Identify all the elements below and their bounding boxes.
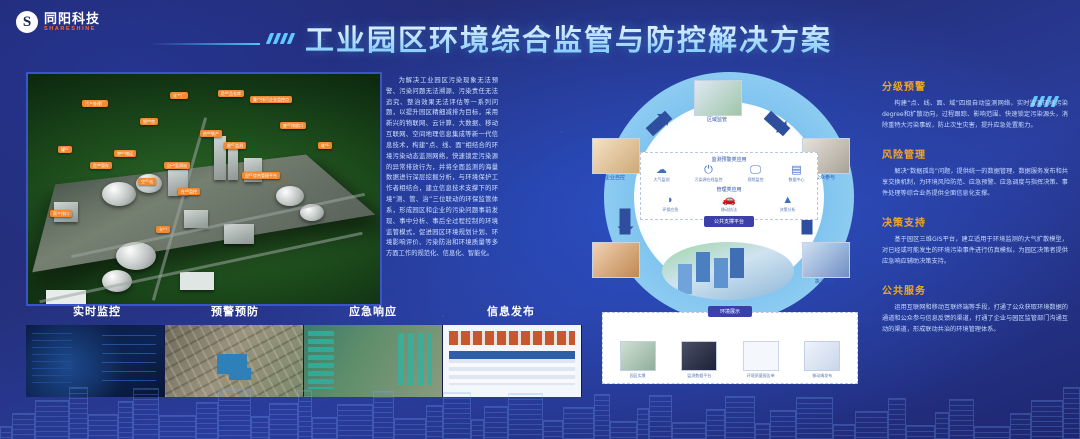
display-item-image [681, 341, 717, 371]
skyline-building [1031, 400, 1063, 439]
display-item-label: 环境质量报告单 [747, 373, 775, 379]
brand-name-en: SHARESHINE [44, 27, 100, 33]
skyline-building [949, 399, 974, 439]
section-heading: 分级预警 [882, 78, 1068, 93]
layers-icon: ▤ [791, 165, 801, 176]
logo-mark-icon: S [16, 11, 38, 33]
page-title: 工业园区环境综合监管与防控解决方案 [305, 17, 832, 59]
skyline-building [796, 397, 833, 439]
category-info-release: 信息发布 [442, 303, 580, 319]
park-chip: 空气站 [138, 178, 156, 185]
skyline-building [35, 400, 69, 439]
title-deco-bars-left [266, 33, 295, 44]
park-tank [102, 182, 136, 206]
platform-tag: 公共支撑平台 [704, 216, 754, 227]
section-body: 解决“数据孤岛”问题，提供统一的数据管理、数据服务发布和共享交换机制，为环境风险… [882, 166, 1068, 199]
park-chip: 重点排污企业监控点 [250, 96, 292, 103]
skyline-building [543, 420, 563, 439]
monitor-icon: 🖵 [750, 165, 761, 176]
platform-panel: 监测预警类应用 ☁ 大气监测 ⏻ 污染源在线监控 🖵 视频监控 ▤ 数据中心 [640, 152, 818, 220]
skyline-building [563, 407, 594, 439]
diagram-node-label: 企业自控 [582, 174, 648, 181]
platform-group2-title: 管理类应用 [641, 186, 817, 193]
skyline-building [594, 394, 610, 439]
diagram-node-label: 区域监管 [684, 116, 750, 123]
display-item[interactable]: 园区实景 [620, 341, 656, 379]
skyline-building [1010, 413, 1031, 439]
category-label-row: 实时监控 预警预防 应急响应 信息发布 [28, 300, 580, 322]
park-chip: 废气排放口 [280, 122, 306, 129]
skyline-building [855, 411, 888, 439]
park-chip: 物料储运 [114, 150, 136, 157]
park-chip: 危险品仓库 [218, 90, 244, 97]
skyline-building [610, 421, 637, 439]
title-banner: 工业园区环境综合监管与防控解决方案 [150, 18, 950, 58]
section-heading: 风险管理 [882, 146, 1068, 161]
diagram-node-image [592, 242, 640, 278]
skyline-building [637, 408, 649, 439]
park-chip: 卡口 [156, 226, 170, 233]
skyline-building [484, 406, 508, 439]
feature-sections: 分级预警 构建“点、线、面、域”四级自动监测网络，实时监测环境污染degree和… [882, 78, 1068, 350]
environment-display-items: 园区实景 监测数据平台 环境质量报告单 移动端发布 [603, 313, 857, 383]
skyline-building [312, 417, 337, 439]
smart-city-image [662, 242, 794, 300]
park-chip: 化工厂 [170, 92, 188, 99]
section-heading: 公共服务 [882, 282, 1068, 297]
skyline-building [755, 423, 770, 439]
park-chip: 雨水排口 [50, 210, 72, 217]
skyline-building [69, 387, 88, 439]
flow-arrow [620, 209, 631, 235]
skyline-building [196, 402, 218, 439]
park-chip: 园区综合管理平台 [242, 172, 280, 179]
poster-root: S 同阳科技 SHARESHINE 工业园区环境综合监管与防控解决方案 [0, 0, 1080, 439]
park-chip: 烟气监测 [224, 142, 246, 149]
environment-display-panel: 环境展示 园区实景 监测数据平台 环境质量报告单 移动端发布 [602, 312, 858, 384]
section-decision-support: 决策支持 基于园区三维GIS平台，建立适用于环境监测的大气扩散模型，对已经或可能… [882, 214, 1068, 267]
skyline-building [394, 418, 426, 439]
skyline-building [706, 409, 725, 439]
solution-intro-text: 为解决工业园区污染现象无法预警、污染问题无法溯源、污染责任无法追究、整治效果无法… [386, 76, 498, 290]
park-building [180, 272, 214, 290]
brand-text: 同阳科技 SHARESHINE [44, 12, 100, 33]
display-item-image [620, 341, 656, 371]
park-chip: 危废暂存 [90, 162, 112, 169]
park-chip: 污水处理厂 [82, 100, 108, 107]
skyline-building [974, 426, 1010, 439]
skyline-building [649, 395, 672, 439]
section-body: 运用互联网和移动互联终端等手段，打通了公众获取环境数据的通道和公众参与信息反馈的… [882, 302, 1068, 335]
display-item[interactable]: 环境质量报告单 [743, 341, 779, 379]
park-chip: 自动监测站 [164, 162, 190, 169]
diagram-node-label: 执法监察 [792, 278, 858, 285]
skyline-building [725, 396, 755, 439]
diagram-node-label: 应急联动 [582, 278, 648, 285]
section-body: 基于园区三维GIS平台，建立适用于环境监测的大气扩散模型，对已经或可能发生的环境… [882, 234, 1068, 267]
display-item-label: 监测数据平台 [687, 373, 711, 379]
section-risk-management: 风险管理 解决“数据孤岛”问题，提供统一的数据管理、数据服务发布和共享交换机制，… [882, 146, 1068, 199]
display-item-label: 园区实景 [630, 373, 646, 379]
category-realtime-monitoring: 实时监控 [28, 303, 166, 319]
skyline-building [337, 404, 373, 439]
platform-app-source[interactable]: ⏻ 污染源在线监控 [695, 165, 723, 183]
brand-name-cn: 同阳科技 [44, 12, 100, 25]
power-icon: ⏻ [704, 165, 713, 176]
platform-app-label: 环保应急 [662, 207, 678, 213]
diagram-node-image [592, 138, 640, 174]
display-item-image [743, 341, 779, 371]
platform-app-emergency[interactable]: ◗ 环保应急 [662, 195, 678, 213]
skyline-building [298, 390, 312, 439]
title-deco-line [150, 43, 260, 45]
skyline-building [906, 425, 935, 439]
section-graded-warning: 分级预警 构建“点、线、面、域”四级自动监测网络，实时监测环境污染degree和… [882, 78, 1068, 131]
section-heading: 决策支持 [882, 214, 1068, 229]
park-chip: 罐区 [58, 146, 72, 153]
platform-app-mobile-enforcement[interactable]: 🚗 移动执法 [721, 195, 737, 213]
display-item-image [804, 341, 840, 371]
skyline-building [426, 405, 443, 439]
skyline-building [935, 412, 949, 439]
display-item[interactable]: 移动端发布 [804, 341, 840, 379]
car-icon: 🚗 [722, 195, 736, 206]
platform-app-decision[interactable]: ▲ 决策分析 [780, 195, 796, 213]
section-public-service: 公共服务 运用互联网和移动互联终端等手段，打通了公众获取环境数据的通道和公众参与… [882, 282, 1068, 335]
cloud-icon: ☁ [656, 165, 667, 176]
park-chip: 在线监控 [178, 188, 200, 195]
category-emergency-response: 应急响应 [304, 303, 442, 319]
brand-logo: S 同阳科技 SHARESHINE [16, 11, 100, 33]
display-item-label: 移动端发布 [812, 373, 832, 379]
platform-icon-row-1: ☁ 大气监测 ⏻ 污染源在线监控 🖵 视频监控 ▤ 数据中心 [641, 165, 817, 183]
skyline-building [118, 401, 133, 439]
skyline-building [12, 413, 35, 439]
skyline-building [159, 415, 196, 439]
skyline-building [508, 393, 543, 439]
park-building [184, 210, 208, 228]
environment-display-tag: 环境展示 [708, 306, 752, 317]
park-chip: 热电联产 [200, 130, 222, 137]
skyline-building [0, 426, 12, 439]
diagram-node-image [694, 80, 742, 116]
park-chip: 堆场 [318, 142, 332, 149]
platform-app-label: 大气监测 [654, 177, 670, 183]
skyline-building [833, 424, 855, 439]
platform-app-label: 污染源在线监控 [695, 177, 723, 183]
platform-app-label: 决策分析 [780, 207, 796, 213]
center-flow-diagram: 区域监管 企业自控 公众参与 执法监察 应急联动 监测预警类应用 ☁ 大气监测 … [588, 66, 870, 396]
section-body: 构建“点、线、面、域”四级自动监测网络，实时监测环境污染degree和扩散动向，… [882, 98, 1068, 131]
industrial-park-3d-image: 污水处理厂 化工厂 危险品仓库 重点排污企业监控点 废气排放口 锅炉房 热电联产… [26, 72, 382, 306]
platform-app-air[interactable]: ☁ 大气监测 [654, 165, 670, 183]
skyline-building [133, 388, 159, 439]
diagram-node-image [802, 242, 850, 278]
skyline-building [888, 398, 906, 439]
skyline-building [1063, 387, 1080, 439]
platform-app-label: 移动执法 [721, 207, 737, 213]
skyline-building [471, 419, 484, 439]
skyline-building [269, 403, 298, 439]
platform-group1-title: 监测预警类应用 [641, 156, 817, 163]
platform-app-label: 数据中心 [789, 177, 805, 183]
skyline-building [251, 416, 269, 439]
park-chip: 锅炉房 [140, 118, 158, 125]
category-early-warning: 预警预防 [166, 303, 304, 319]
platform-app-datacenter[interactable]: ▤ 数据中心 [789, 165, 805, 183]
platform-icon-row-2: ◗ 环保应急 🚗 移动执法 ▲ 决策分析 [641, 195, 817, 213]
skyline-building [672, 422, 706, 439]
park-tank [276, 186, 304, 206]
platform-app-video[interactable]: 🖵 视频监控 [748, 165, 764, 183]
city-skyline-decoration [0, 383, 1080, 439]
park-building [224, 224, 254, 244]
display-item[interactable]: 监测数据平台 [681, 341, 717, 379]
skyline-building [373, 391, 394, 439]
gauge-icon: ◗ [667, 195, 674, 206]
chart-icon: ▲ [782, 195, 793, 206]
skyline-building [218, 389, 251, 439]
skyline-building [770, 410, 796, 439]
skyline-building [88, 414, 118, 439]
platform-app-label: 视频监控 [748, 177, 764, 183]
skyline-building [443, 392, 471, 439]
